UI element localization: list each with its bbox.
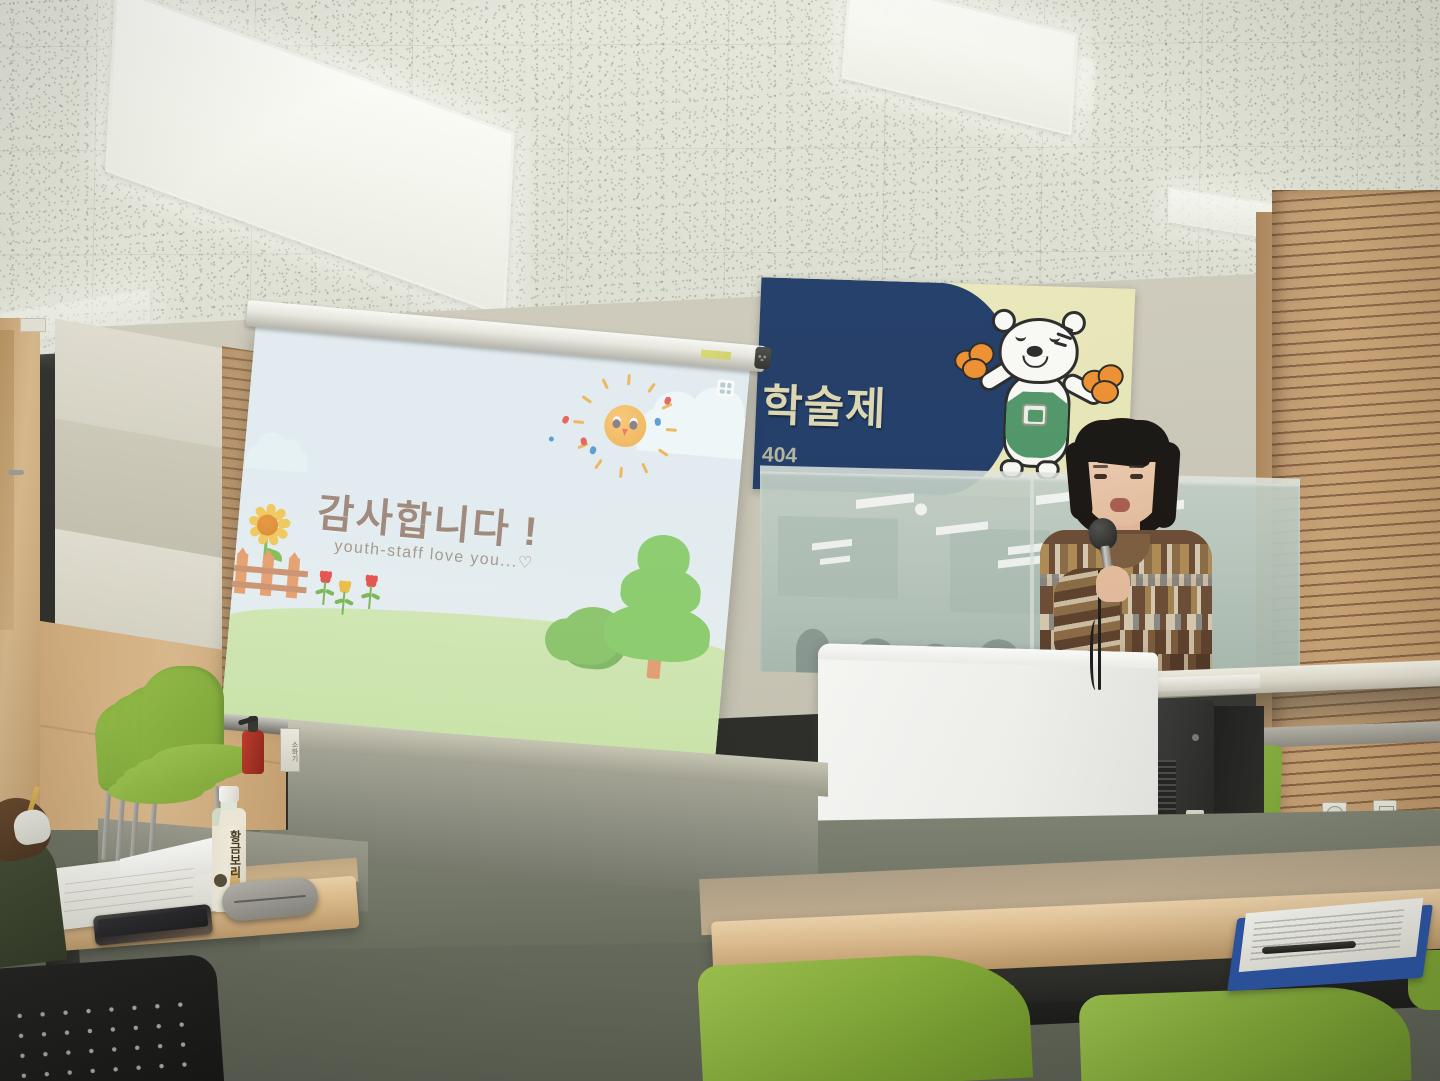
tulip-icon-2	[334, 580, 353, 615]
door-panel[interactable]	[0, 330, 14, 630]
confetti-dot-3	[589, 446, 597, 455]
microphone-cable-loop	[1090, 620, 1104, 690]
pine-tree-icon	[598, 530, 720, 683]
presenter-mouth	[1110, 498, 1130, 512]
presenter-bangs	[1074, 420, 1170, 462]
tiger-pompom-left	[953, 341, 999, 382]
door-handle[interactable]	[8, 470, 24, 475]
tulip-icon-1	[315, 570, 334, 605]
confetti-dot-6	[549, 436, 554, 441]
foreground-chair-right[interactable]	[1078, 984, 1411, 1081]
chair-perforation	[8, 993, 203, 1081]
presenter	[1018, 418, 1218, 688]
presentation-slide: 감사합니다 ! youth-staff love you...♡	[221, 326, 750, 759]
sun-face	[603, 403, 649, 449]
tulip-icon-3	[361, 574, 380, 609]
foreground-chair-center[interactable]	[697, 949, 1033, 1081]
presenter-eyebrow-right	[1129, 465, 1144, 468]
presenter-hand	[1096, 566, 1130, 602]
sun-icon	[564, 372, 682, 476]
cloud-icon-small	[245, 444, 309, 473]
banner-title: 학술제	[761, 369, 888, 437]
screen-surface: 감사합니다 ! youth-staff love you...♡	[221, 326, 750, 759]
roller-sticker	[701, 350, 732, 361]
fire-extinguisher[interactable]	[242, 716, 264, 774]
door-closer-plate	[20, 318, 46, 332]
screen-end-cap	[754, 346, 772, 369]
tiger-pompom-right	[1081, 363, 1127, 404]
picket-fence-icon	[232, 547, 310, 599]
seminar-room-photo: 학술제 404	[0, 0, 1440, 1081]
glass-light-dot	[915, 503, 927, 515]
bottle-brand-text: 황금보리	[217, 830, 241, 878]
glass-reflection-1	[856, 493, 914, 509]
extinguisher-sign: 소화기	[280, 728, 300, 772]
confetti-dot-1	[561, 415, 570, 425]
presenter-eyebrow-left	[1093, 465, 1108, 468]
equipment-power-button[interactable]	[1192, 734, 1199, 741]
equipment-vent	[1158, 760, 1176, 820]
bottle-cap[interactable]	[219, 786, 239, 802]
presenter-eye-right	[1130, 474, 1143, 479]
presenter-eye-left	[1094, 474, 1107, 479]
four-dot-grid-icon	[716, 379, 734, 397]
confetti-dot-5	[655, 418, 661, 426]
